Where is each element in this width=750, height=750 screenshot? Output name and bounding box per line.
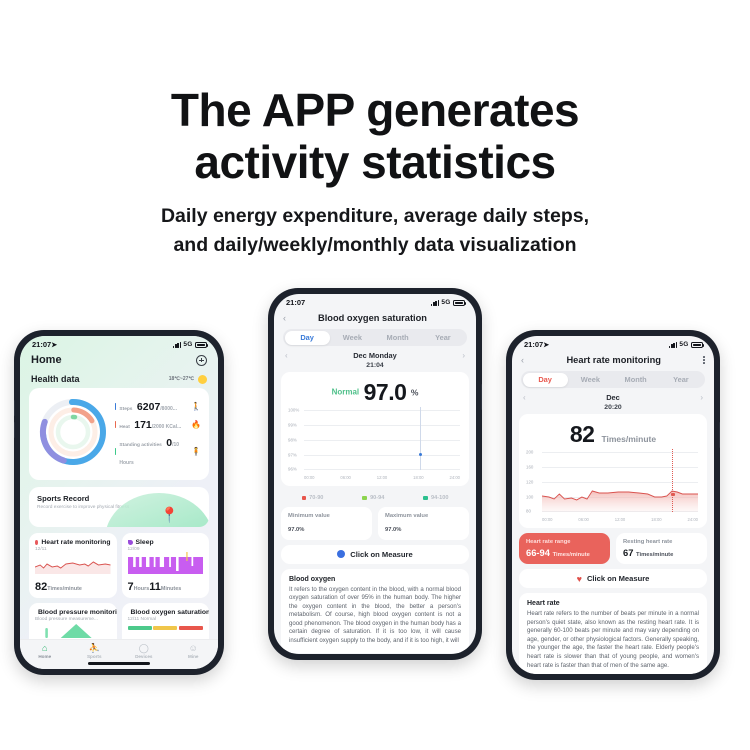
- legend-swatch: [423, 496, 428, 501]
- card-title: Blood pressure monitoring: [38, 609, 117, 616]
- status-time: 21:07: [32, 340, 51, 349]
- network-label: 5G: [183, 341, 192, 348]
- measure-label: Click on Measure: [350, 550, 412, 559]
- y-tick: 80: [526, 509, 531, 514]
- phone-center: 21:07 5G ‹ Blood oxygen saturation Day W…: [268, 288, 482, 660]
- x-tick: 12:00: [615, 517, 625, 522]
- date-label: Dec: [606, 393, 620, 402]
- legend-label: 70-90: [309, 495, 323, 501]
- home-indicator: [88, 662, 150, 665]
- heart-rate-area-series: [542, 449, 698, 512]
- card-value: 82: [35, 581, 47, 593]
- y-tick: 200: [526, 450, 533, 455]
- card-title: Blood oxygen saturation: [131, 609, 210, 616]
- heart-rate-range-card: Heart rate range 66-94 Times/minute: [519, 533, 610, 564]
- network-label: 5G: [679, 341, 688, 348]
- plus-circle-icon[interactable]: [196, 355, 207, 366]
- heart-rate-info: Heart rate Heart rate refers to the numb…: [519, 593, 707, 674]
- minimum-unit: %: [299, 527, 304, 533]
- page-title: Blood oxygen saturation: [318, 313, 427, 323]
- tab-day[interactable]: Day: [285, 331, 330, 345]
- phone-left-screen: 21:07 ➤ 5G Home Health data 18℃~27℃: [20, 336, 218, 669]
- battery-icon: [195, 342, 207, 348]
- home-icon: ⌂: [20, 643, 70, 653]
- range-value: 66-94: [526, 547, 550, 558]
- spo2-chart: 100% 99% 98% 97% 96% 00:00 06:00 12:00 1…: [288, 407, 462, 479]
- x-tick: 24:00: [688, 517, 698, 522]
- tab-label: Home: [20, 654, 70, 659]
- spo2-range-bars: [128, 626, 204, 630]
- minimum-label: Minimum value: [288, 513, 365, 521]
- measure-dot-icon: [337, 550, 345, 558]
- walk-icon: 🚶: [191, 402, 201, 411]
- heart-icon: ♥: [577, 575, 582, 583]
- resting-label: Resting heart rate: [623, 539, 700, 545]
- status-bar: 21:07 5G: [274, 294, 476, 311]
- tab-devices[interactable]: ◯ Devices: [119, 643, 169, 659]
- legend-swatch: [362, 496, 367, 501]
- next-date-button[interactable]: ›: [700, 393, 703, 402]
- headline-line-2: activity statistics: [0, 136, 750, 188]
- y-tick: 96%: [288, 467, 297, 472]
- y-tick: 160: [526, 465, 533, 470]
- tab-year[interactable]: Year: [420, 331, 465, 345]
- card-heart-rate[interactable]: Heart rate monitoring 12/11 82Times/minu…: [29, 533, 117, 598]
- power-button[interactable]: [719, 422, 720, 448]
- minimum-value-card: Minimum value 97.0%: [281, 507, 372, 540]
- map-pin-icon: 📍: [160, 508, 179, 523]
- sun-icon: [198, 375, 207, 384]
- date-selector: ‹ Dec Monday ›: [274, 346, 476, 361]
- y-tick: 100: [526, 495, 533, 500]
- x-tick: 06:00: [340, 475, 350, 480]
- signal-icon: [431, 300, 439, 306]
- x-tick: 24:00: [450, 475, 460, 480]
- nav-bar: ‹ Heart rate monitoring: [512, 353, 714, 371]
- health-data-title: Health data: [31, 374, 80, 384]
- heart-rate-chart: 200 160 120 100 80: [526, 449, 700, 521]
- tab-week[interactable]: Week: [330, 331, 375, 345]
- maximum-value-card: Maximum value 97.0%: [378, 507, 469, 540]
- reading-value: 97.0: [364, 379, 407, 405]
- phone-center-screen: 21:07 5G ‹ Blood oxygen saturation Day W…: [274, 294, 476, 654]
- reading-unit: %: [411, 387, 419, 397]
- volume-up-button[interactable]: [14, 400, 15, 416]
- legend-swatch: [302, 496, 307, 501]
- chevron-left-icon[interactable]: ‹: [521, 355, 524, 365]
- x-tick: 18:00: [651, 517, 661, 522]
- resting-value: 67: [623, 547, 633, 558]
- status-bar: 21:07 ➤ 5G: [20, 336, 218, 353]
- sports-icon: ⛹: [70, 643, 120, 653]
- maximum-unit: %: [396, 527, 401, 533]
- minimum-value: 97.0: [288, 527, 299, 533]
- tab-year[interactable]: Year: [658, 373, 703, 387]
- subtitle-line-2: and daily/weekly/monthly data visualizat…: [0, 231, 750, 260]
- card-date: 12/11 Normal: [128, 617, 204, 622]
- tab-label: Sports: [70, 654, 120, 659]
- date-selector: ‹ Dec ›: [512, 388, 714, 403]
- stat-heat: Heat 171/2000 KCal... 🔥: [115, 415, 201, 433]
- period-tabs: Day Week Month Year: [283, 329, 467, 346]
- next-date-button[interactable]: ›: [462, 351, 465, 360]
- stat-label: Standing activities: [119, 443, 161, 448]
- sports-record-card[interactable]: Sports Record Record exercise to improve…: [29, 487, 209, 527]
- legend-label: 94-100: [431, 495, 448, 501]
- range-label: Heart rate range: [526, 539, 603, 545]
- info-title: Blood oxygen: [289, 576, 461, 583]
- status-time: 21:07: [286, 298, 305, 307]
- page-headline: The APP generates activity statistics: [0, 84, 750, 188]
- tab-home[interactable]: ⌂ Home: [20, 643, 70, 659]
- legend-item: 94-100: [423, 495, 448, 501]
- sleep-bars-chart: [128, 552, 204, 574]
- tab-mine[interactable]: ☺ Mine: [169, 643, 219, 659]
- stat-standing: Standing activities 0/10 Hours 🧍: [115, 433, 201, 469]
- headline-line-1: The APP generates: [0, 84, 750, 136]
- info-body: It refers to the oxygen content in the b…: [289, 586, 461, 646]
- power-button[interactable]: [481, 384, 482, 410]
- x-tick: 00:00: [542, 517, 552, 522]
- info-title: Heart rate: [527, 600, 699, 607]
- legend-label: 90-94: [370, 495, 384, 501]
- x-tick: 06:00: [578, 517, 588, 522]
- subtitle-line-1: Daily energy expenditure, average daily …: [0, 202, 750, 231]
- stat-goal: /8000...: [160, 406, 177, 412]
- y-tick: 100%: [288, 408, 299, 413]
- maximum-value: 97.0: [385, 527, 396, 533]
- minmax-row: Minimum value 97.0% Maximum value 97.0%: [281, 507, 469, 540]
- chart-legend: 70-90 90-94 94-100: [274, 491, 476, 503]
- reading-value: 82: [570, 423, 595, 446]
- status-time: 21:07: [524, 340, 543, 349]
- info-body: Heart rate refers to the number of beats…: [527, 610, 699, 670]
- stat-value: 6207: [137, 401, 160, 413]
- prev-date-button[interactable]: ‹: [285, 351, 288, 360]
- x-tick: 12:00: [377, 475, 387, 480]
- health-rings-card[interactable]: Steps 6207/8000... 🚶 Heat 171/2000 KCal.…: [29, 388, 209, 480]
- measure-label: Click on Measure: [587, 574, 649, 583]
- tab-sports[interactable]: ⛹ Sports: [70, 643, 120, 659]
- signal-icon: [173, 342, 181, 348]
- legend-item: 90-94: [362, 495, 384, 501]
- tab-label: Devices: [119, 654, 169, 659]
- phone-right-screen: 21:07 ➤ 5G ‹ Heart rate monitoring Day W…: [512, 336, 714, 674]
- tab-month[interactable]: Month: [613, 373, 658, 387]
- heart-rate-chart-card: 82 Times/minute 200 160 120 100 80: [519, 414, 707, 528]
- legend-item: 70-90: [302, 495, 324, 501]
- phone-right: 21:07 ➤ 5G ‹ Heart rate monitoring Day W…: [506, 330, 720, 680]
- battery-icon: [691, 342, 703, 348]
- heart-rate-reading: 82 Times/minute: [526, 421, 700, 446]
- page-title: Home: [31, 354, 62, 366]
- click-on-measure-button[interactable]: Click on Measure: [281, 545, 469, 564]
- chevron-left-icon[interactable]: ‹: [283, 313, 286, 323]
- stat-value: 171: [134, 419, 152, 431]
- volume-down-button[interactable]: [14, 422, 15, 438]
- stat-label: Steps: [119, 407, 132, 412]
- tab-day[interactable]: Day: [523, 373, 568, 387]
- moon-icon: [128, 540, 133, 545]
- stat-label: Heat: [119, 425, 129, 430]
- flame-icon: 🔥: [191, 420, 201, 429]
- tab-week[interactable]: Week: [568, 373, 613, 387]
- period-tabs: Day Week Month Year: [521, 371, 705, 388]
- spo2-reading: Normal 97.0 %: [288, 379, 462, 404]
- x-tick: 00:00: [304, 475, 314, 480]
- tab-month[interactable]: Month: [375, 331, 420, 345]
- status-bar: 21:07 ➤ 5G: [512, 336, 714, 353]
- heart-icon: [35, 540, 38, 545]
- y-tick: 120: [526, 480, 533, 485]
- card-unit: Times/minute: [47, 586, 82, 592]
- tab-label: Mine: [169, 654, 219, 659]
- status-badge: Normal: [332, 388, 360, 397]
- more-vertical-icon[interactable]: [703, 356, 705, 363]
- spo2-chart-card: Normal 97.0 % 100% 99% 98% 97% 96% 00:00: [281, 372, 469, 486]
- resting-unit: Times/minute: [636, 552, 673, 558]
- y-tick: 99%: [288, 423, 297, 428]
- stand-icon: 🧍: [191, 447, 201, 456]
- bp-graphic: [35, 622, 111, 638]
- temperature-label: 18℃~27℃: [169, 376, 194, 382]
- phone-left: 21:07 ➤ 5G Home Health data 18℃~27℃: [14, 330, 224, 675]
- signal-icon: [669, 342, 677, 348]
- blood-oxygen-info: Blood oxygen It refers to the oxygen con…: [281, 569, 469, 653]
- current-marker: [671, 493, 674, 496]
- card-value-2: 11: [149, 581, 161, 593]
- reading-time: 21:04: [274, 362, 476, 369]
- battery-icon: [453, 300, 465, 306]
- y-tick: 98%: [288, 438, 297, 443]
- devices-icon: ◯: [119, 643, 169, 653]
- y-tick: 97%: [288, 453, 297, 458]
- card-unit: Hours: [134, 586, 150, 592]
- resting-heart-rate-card: Resting heart rate 67 Times/minute: [616, 533, 707, 564]
- heart-rate-stats-row: Heart rate range 66-94 Times/minute Rest…: [519, 533, 707, 564]
- heart-rate-sparkline: [35, 552, 111, 574]
- x-tick: 18:00: [413, 475, 423, 480]
- card-title: Heart rate monitoring: [41, 539, 110, 546]
- stat-steps: Steps 6207/8000... 🚶: [115, 397, 201, 415]
- location-arrow-icon: ➤: [51, 341, 57, 349]
- nav-bar: ‹ Blood oxygen saturation: [274, 311, 476, 329]
- click-on-measure-button[interactable]: ♥ Click on Measure: [519, 569, 707, 588]
- stat-goal: /2000 KCal...: [152, 424, 181, 430]
- activity-rings: [37, 396, 109, 468]
- page-title: Heart rate monitoring: [566, 355, 661, 365]
- network-label: 5G: [441, 299, 450, 306]
- reading-time: 20:20: [512, 404, 714, 411]
- range-unit: Times/minute: [553, 552, 590, 558]
- card-title: Sleep: [136, 539, 154, 546]
- card-sleep[interactable]: Sleep 12/09 7Hour: [122, 533, 210, 598]
- prev-date-button[interactable]: ‹: [523, 393, 526, 402]
- maximum-label: Maximum value: [385, 513, 462, 521]
- reading-unit: Times/minute: [601, 435, 656, 444]
- person-icon: ☺: [169, 643, 219, 653]
- page-subtitle: Daily energy expenditure, average daily …: [0, 202, 750, 260]
- date-label: Dec Monday: [353, 351, 397, 360]
- card-unit-2: Minutes: [161, 586, 181, 592]
- location-arrow-icon: ➤: [543, 341, 549, 349]
